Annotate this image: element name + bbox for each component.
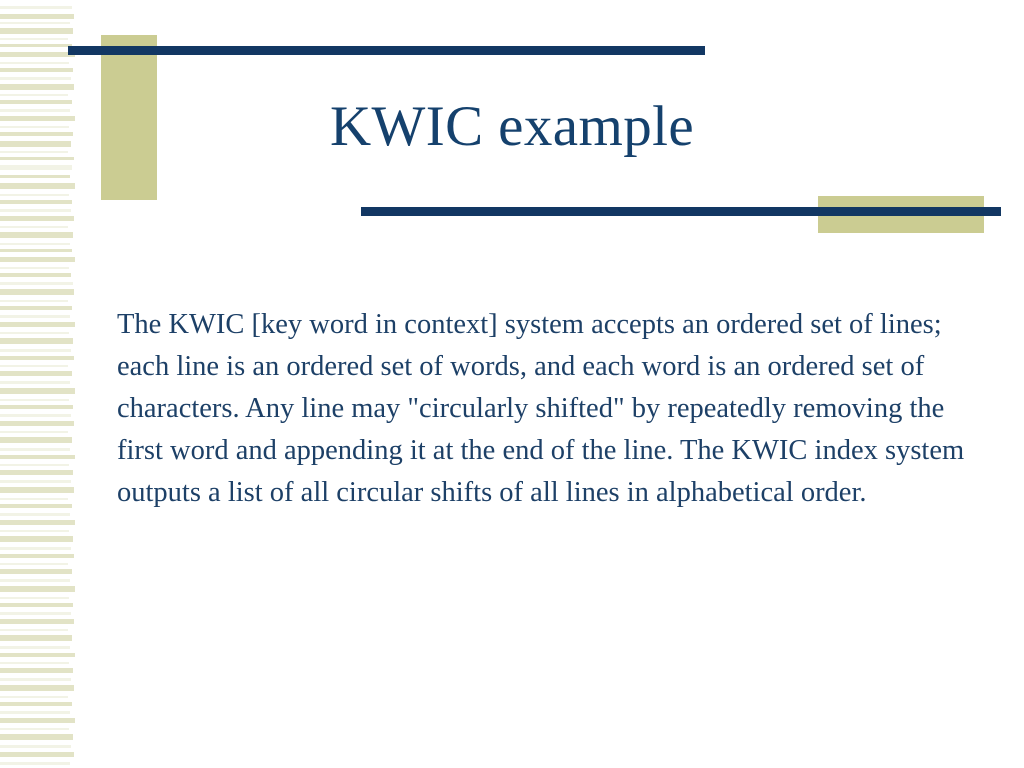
stripe-line [0,68,73,72]
stripe-line [0,470,73,475]
stripe-line [0,257,75,262]
stripe-line [0,619,74,624]
stripe-line [0,28,73,34]
stripe-line [0,282,73,285]
navy-rule-middle [361,207,1001,216]
stripe-line [0,728,69,730]
stripe-line [0,249,72,252]
stripe-line [0,399,69,401]
stripe-line [0,371,72,376]
stripe-line [0,332,69,334]
stripe-line [0,183,75,189]
stripe-line [0,216,74,221]
stripe-line [0,267,69,269]
stripe-line [0,653,75,657]
stripe-line [0,194,69,196]
stripe-line [0,685,74,691]
stripe-line [0,464,69,466]
stripe-line [0,662,69,664]
navy-rule-top [68,46,705,55]
stripe-line [0,530,69,532]
stripe-line [0,563,68,565]
stripe-line [0,536,73,542]
stripe-line [0,678,71,681]
stripe-line [0,349,71,352]
stripe-line [0,718,75,723]
stripe-line [0,315,70,318]
stripe-line [0,338,73,344]
stripe-line [0,84,74,90]
stripe-line [0,448,70,451]
stripe-line [0,62,69,64]
stripe-line [0,306,72,310]
presentation-slide: KWIC example The KWIC [key word in conte… [0,0,1024,768]
stripe-line [0,226,68,228]
stripe-line [0,14,74,19]
stripe-line [0,38,68,40]
stripe-line [0,504,72,508]
stripe-line [0,6,72,9]
stripe-line [0,646,70,649]
slide-body-text: The KWIC [key word in context] system ac… [117,304,969,514]
stripe-line [0,762,70,765]
stripe-line [0,629,68,631]
stripe-line [0,734,73,740]
stripe-line [0,487,74,493]
stripe-line [0,44,72,47]
stripe-line [0,52,75,57]
stripe-line [0,711,70,714]
stripe-line [0,365,68,367]
stripe-line [0,520,75,525]
stripe-line [0,547,71,550]
stripe-line [0,696,68,698]
stripe-line [0,513,70,516]
stripe-line [0,437,72,443]
stripe-line [0,586,75,592]
stripe-line [0,381,70,384]
slide-title: KWIC example [0,95,1024,159]
stripe-line [0,752,74,757]
stripe-line [0,175,70,178]
stripe-line [0,22,70,24]
stripe-line [0,745,71,748]
stripe-line [0,597,69,599]
stripe-line [0,232,73,238]
stripe-line [0,612,71,615]
stripe-line [0,421,74,426]
stripe-line [0,77,71,80]
stripe-line [0,603,73,607]
stripe-line [0,554,74,558]
stripe-line [0,569,72,574]
stripe-line [0,480,71,483]
stripe-line [0,209,71,212]
stripe-line [0,455,75,459]
stripe-line [0,356,74,360]
stripe-line [0,243,70,245]
stripe-line [0,414,71,417]
stripe-line [0,668,73,673]
stripe-line [0,200,72,204]
stripe-line [0,405,73,409]
stripe-line [0,165,72,170]
stripe-line [0,431,68,433]
stripe-line [0,635,72,641]
stripe-line [0,273,71,277]
stripe-line [0,579,70,582]
stripe-line [0,300,68,302]
stripe-line [0,702,72,706]
stripe-line [0,498,68,500]
stripe-line [0,322,75,327]
stripe-line [0,289,74,295]
stripe-line [0,388,75,394]
